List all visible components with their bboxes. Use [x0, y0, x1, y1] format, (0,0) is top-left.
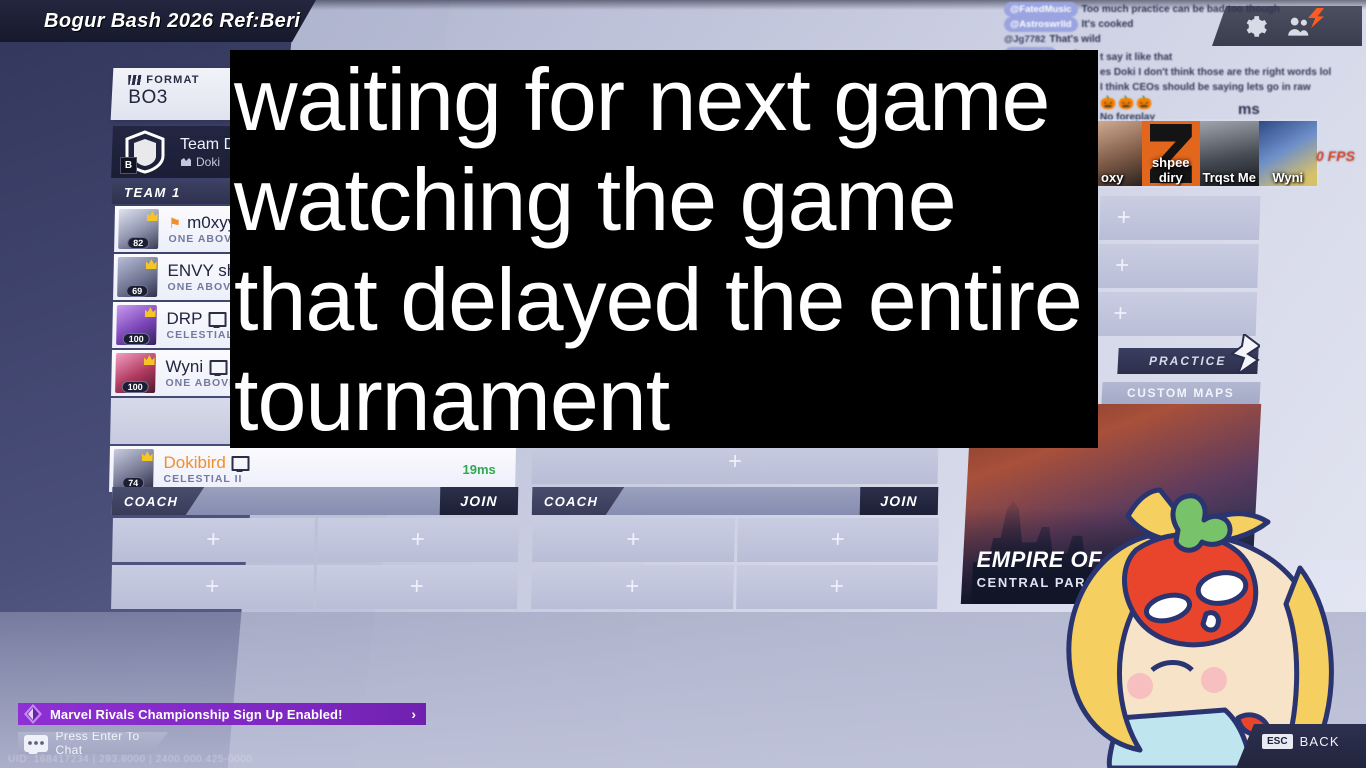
- player-crown-icon: [145, 306, 156, 317]
- player-level-badge: 69: [126, 285, 148, 297]
- webcam-label: Trqst Me: [1200, 170, 1259, 185]
- empty-player-slot[interactable]: +: [532, 518, 734, 562]
- webcam-tile: Wyni: [1259, 121, 1318, 186]
- empty-player-slot[interactable]: +: [316, 565, 518, 609]
- stream-chat-text: Too much practice can be bad too though: [1082, 4, 1280, 15]
- player-crown-icon: [147, 210, 158, 221]
- tournament-title: Bogur Bash 2026 Ref:Beri: [0, 10, 300, 33]
- team2-join-button[interactable]: JOIN: [860, 487, 939, 515]
- stream-chat-message: I think CEOs should be saying lets go in…: [1100, 80, 1366, 95]
- right-empty-slot[interactable]: +: [1099, 196, 1261, 240]
- add-player-plus-icon: +: [1113, 302, 1128, 326]
- player-name: DRP: [167, 309, 203, 329]
- promo-banner[interactable]: Marvel Rivals Championship Sign Up Enabl…: [18, 703, 426, 725]
- add-player-plus-icon: +: [1116, 206, 1131, 230]
- team2-coach-label: COACH: [532, 487, 625, 515]
- stream-chat-message: es Doki I don't think those are the righ…: [1100, 65, 1366, 80]
- stream-chat-username: @FatedMusic: [1004, 2, 1078, 17]
- ping-ms-label: ms: [1238, 102, 1260, 117]
- player-name: Wyni: [166, 357, 204, 377]
- empty-player-slot[interactable]: +: [737, 518, 939, 562]
- player-avatar: 74: [113, 449, 154, 489]
- team1-coach-label: COACH: [112, 487, 205, 515]
- owner-icon: [180, 157, 192, 168]
- webcam-tile: shpee diry: [1142, 121, 1201, 186]
- add-player-plus-icon: +: [409, 575, 424, 599]
- chat-prompt-bar[interactable]: Press Enter To Chat: [18, 732, 168, 754]
- add-player-plus-icon: +: [1115, 254, 1130, 278]
- vtuber-mascot-overlay: [1000, 418, 1340, 768]
- player-rank: CELESTIAL II: [164, 473, 250, 485]
- format-label: FORMAT: [146, 74, 199, 86]
- pumpkin-emote-row: 🎃🎃🎃: [1100, 95, 1366, 110]
- player-crown-icon: [142, 450, 153, 461]
- format-icon: [128, 75, 141, 85]
- add-player-plus-icon: +: [625, 575, 640, 599]
- player-crown-icon: [144, 354, 155, 365]
- fps-counter: 0 FPS: [1316, 148, 1355, 164]
- caption-overlay: waiting for next gamewatching the gameth…: [230, 50, 1098, 448]
- empty-player-slot[interactable]: +: [112, 518, 314, 562]
- caption-line: watching the game: [230, 150, 1098, 250]
- player-name: m0xyy: [187, 213, 236, 233]
- stream-chat-username: @Jg7782: [1004, 32, 1045, 47]
- tab-custom-maps[interactable]: CUSTOM MAPS: [1101, 382, 1260, 404]
- chat-prompt-text: Press Enter To Chat: [56, 729, 168, 757]
- player-ping: 19ms: [462, 462, 495, 477]
- uid-status-line: UID: 168417234 | 293.8000 | 2400.000.425…: [8, 754, 253, 765]
- player-avatar: 69: [117, 257, 158, 297]
- add-player-plus-icon: +: [410, 528, 425, 552]
- webcam-label: shpee diry: [1142, 155, 1201, 185]
- practice-tab-label: PRACTICE: [1149, 354, 1226, 368]
- pc-platform-icon: [208, 312, 226, 327]
- player-level-badge: 100: [122, 381, 149, 393]
- add-player-plus-icon: +: [626, 528, 641, 552]
- add-player-plus-icon: +: [728, 450, 743, 474]
- stream-chat-text: That's wild: [1049, 34, 1100, 45]
- player-avatar: 100: [116, 305, 157, 345]
- stream-chat-username: @Astroswrlld: [1004, 17, 1078, 32]
- stream-chat-overlay-lower: t say it like thates Doki I don't think …: [1100, 50, 1366, 120]
- player-avatar: 82: [118, 209, 159, 249]
- custom-maps-tab-label: CUSTOM MAPS: [1127, 386, 1234, 400]
- team1-coach-bar: COACH JOIN: [112, 487, 519, 515]
- pc-platform-icon: [209, 360, 227, 375]
- promo-banner-text: Marvel Rivals Championship Sign Up Enabl…: [50, 707, 343, 722]
- right-empty-slot[interactable]: +: [1097, 244, 1259, 288]
- player-flag-icon: ⚑: [169, 215, 182, 232]
- team-tier-badge: B: [120, 157, 137, 174]
- player-level-badge: 100: [123, 333, 150, 345]
- team1-join-button[interactable]: JOIN: [440, 487, 519, 515]
- esc-key-badge: ESC: [1262, 734, 1293, 749]
- chat-bubble-icon: [24, 735, 48, 752]
- empty-player-slot[interactable]: +: [531, 565, 733, 609]
- practice-bolt-icon: [1224, 334, 1260, 374]
- team2-coach-bar: COACH JOIN: [532, 487, 939, 515]
- player-name: Dokibird: [164, 453, 226, 473]
- add-player-plus-icon: +: [830, 528, 845, 552]
- marvel-rivals-icon: [22, 703, 44, 725]
- pc-platform-icon: [232, 456, 250, 471]
- right-empty-slot[interactable]: +: [1096, 292, 1258, 336]
- stream-chat-message: t say it like that: [1100, 50, 1366, 65]
- team-owner-name: Doki: [196, 155, 220, 170]
- stream-chat-message: @AstroswrlldIt's cooked: [1004, 17, 1366, 32]
- empty-player-slot[interactable]: +: [111, 565, 313, 609]
- player-info: DokibirdCELESTIAL II: [164, 453, 250, 485]
- empty-player-slot[interactable]: +: [736, 565, 938, 609]
- player-name-row: Dokibird: [164, 453, 250, 473]
- caption-line: that delayed the entire: [230, 250, 1098, 350]
- team1-empty-slot-grid: ++++: [111, 518, 519, 609]
- team-crest-icon: B: [124, 130, 166, 174]
- tournament-title-bar: Bogur Bash 2026 Ref:Beri: [0, 0, 316, 42]
- right-empty-slot-column: +++: [1095, 196, 1260, 340]
- add-player-plus-icon: +: [206, 528, 221, 552]
- promo-arrow-icon[interactable]: ›: [411, 706, 416, 722]
- roster-row[interactable]: 74DokibirdCELESTIAL II19ms: [109, 446, 516, 492]
- webcam-tile: Trqst Me: [1200, 121, 1259, 186]
- add-player-plus-icon: +: [205, 575, 220, 599]
- add-player-plus-icon: +: [829, 575, 844, 599]
- stream-chat-message: @FatedMusicToo much practice can be bad …: [1004, 2, 1366, 17]
- player-avatar: 100: [115, 353, 156, 393]
- stream-chat-message: @Jg7782That's wild: [1004, 32, 1366, 47]
- player-crown-icon: [146, 258, 157, 269]
- webcam-tile-strip: oxy shpee diry Trqst Me Wyni: [1083, 121, 1317, 186]
- webcam-label: Wyni: [1259, 170, 1318, 185]
- stream-chat-text: It's cooked: [1082, 19, 1134, 30]
- caption-line: tournament: [230, 350, 1098, 450]
- back-label: BACK: [1300, 734, 1340, 749]
- team2-empty-slot-grid: ++++: [531, 518, 939, 609]
- game-lobby-screen: Bogur Bash 2026 Ref:Beri FORMAT BO3: [0, 0, 1366, 768]
- back-control[interactable]: ESC BACK: [1262, 734, 1340, 749]
- empty-player-slot[interactable]: +: [317, 518, 519, 562]
- player-level-badge: 82: [127, 237, 149, 249]
- caption-line: waiting for next game: [230, 50, 1098, 150]
